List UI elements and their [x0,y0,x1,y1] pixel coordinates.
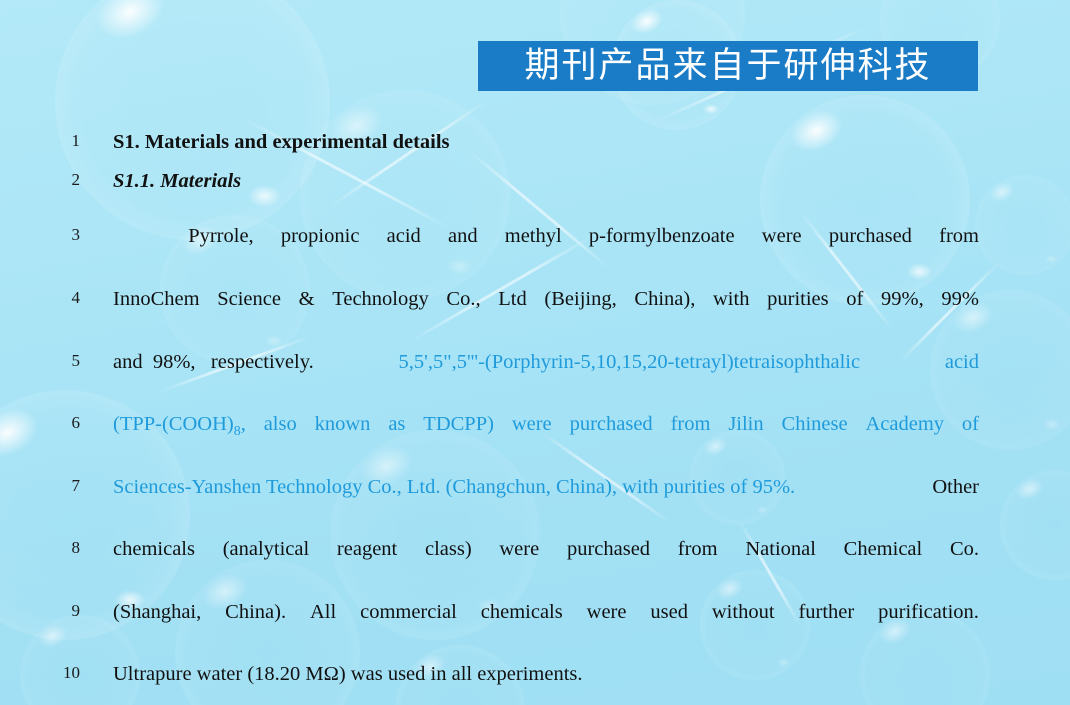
justified-words: (Shanghai, China). All commercial chemic… [113,601,979,624]
word: and [448,225,478,248]
document-body: 1 S1. Materials and experimental details… [0,0,1070,705]
line-number: 9 [36,601,80,621]
subscript: 8 [234,424,241,439]
word: purities [767,288,829,311]
word: InnoChem [113,288,200,311]
paragraph-line: Ultrapure water (18.20 MΩ) was used in a… [113,663,979,686]
word: also [264,413,297,440]
first-line-indent [113,225,161,248]
justified-words: Pyrrole, propionic acid and methyl p-for… [113,225,979,248]
word: were [587,601,627,624]
line-number: 1 [36,131,80,151]
word: (TPP-(COOH)8, [113,413,246,440]
word: 99% [941,288,979,311]
text-segment-blue: Sciences-Yanshen Technology Co., Ltd. (C… [113,476,795,499]
word: p-formylbenzoate [589,225,735,248]
word: (Beijing, [544,288,616,311]
text-segment-black: Other [932,476,979,499]
paragraph-line: chemicals (analytical reagent class) wer… [113,538,979,561]
word: without [712,601,775,624]
word: All [310,601,336,624]
word: Science [217,288,281,311]
line-number: 6 [36,413,80,433]
word: of [962,413,979,440]
paragraph-line: (Shanghai, China). All commercial chemic… [113,601,979,624]
text-segment-black: and 98%, respectively. [113,351,314,374]
paragraph-line: Sciences-Yanshen Technology Co., Ltd. (C… [113,476,979,499]
word: acid [387,225,421,248]
line-number: 7 [36,476,80,496]
word: of [846,288,863,311]
word: TDCPP) [423,413,494,440]
word: China). [225,601,286,624]
line-number: 4 [36,288,80,308]
word: methyl [505,225,562,248]
paragraph-line: InnoChem Science & Technology Co., Ltd (… [113,288,979,311]
section-subheading: S1.1. Materials [113,170,979,193]
text-segment-blue: 5,5',5",5'''-(Porphyrin-5,10,15,20-tetra… [399,351,861,374]
paragraph-line: (TPP-(COOH)8, also known as TDCPP) were … [113,413,979,440]
line-number: 2 [36,170,80,190]
word: (analytical [223,538,310,561]
word: were [762,225,802,248]
word: were [499,538,539,561]
word: from [678,538,718,561]
word: & [299,288,315,311]
word: from [671,413,711,440]
word: chemicals [481,601,563,624]
word: chemicals [113,538,195,561]
word: purification. [878,601,979,624]
word: further [798,601,854,624]
word: China), [634,288,695,311]
section-heading: S1. Materials and experimental details [113,131,979,154]
word: Co. [950,538,979,561]
word: 99%, [881,288,924,311]
paragraph-line: and 98%, respectively. 5,5',5",5'''-(Por… [113,351,979,374]
word: Chemical [844,538,923,561]
line-number: 5 [36,351,80,371]
word: purchased [570,413,653,440]
word: purchased [829,225,912,248]
word: commercial [360,601,457,624]
justified-words: InnoChem Science & Technology Co., Ltd (… [113,288,979,311]
line-number: 8 [36,538,80,558]
paragraph-line: Pyrrole, propionic acid and methyl p-for… [113,225,979,248]
word: Pyrrole, [188,225,253,248]
word: Co., [446,288,480,311]
word: reagent [337,538,397,561]
word: from [939,225,979,248]
word: class) [425,538,472,561]
word: were [512,413,552,440]
word: propionic [281,225,360,248]
justified-words: and 98%, respectively. 5,5',5",5'''-(Por… [113,351,979,374]
justified-words: chemicals (analytical reagent class) wer… [113,538,979,561]
line-number: 10 [36,663,80,683]
justified-words: (TPP-(COOH)8, also known as TDCPP) were … [113,413,979,440]
word: Jilin [728,413,763,440]
word: Academy [865,413,944,440]
word: National [745,538,816,561]
word: with [713,288,749,311]
word: (Shanghai, [113,601,201,624]
justified-words: Sciences-Yanshen Technology Co., Ltd. (C… [113,476,979,499]
word: Chinese [782,413,848,440]
word: purchased [567,538,650,561]
word: Ltd [498,288,526,311]
text-segment-blue: acid [945,351,979,374]
word: Technology [332,288,428,311]
word: known [315,413,371,440]
word: as [388,413,405,440]
line-number: 3 [36,225,80,245]
word: used [650,601,688,624]
